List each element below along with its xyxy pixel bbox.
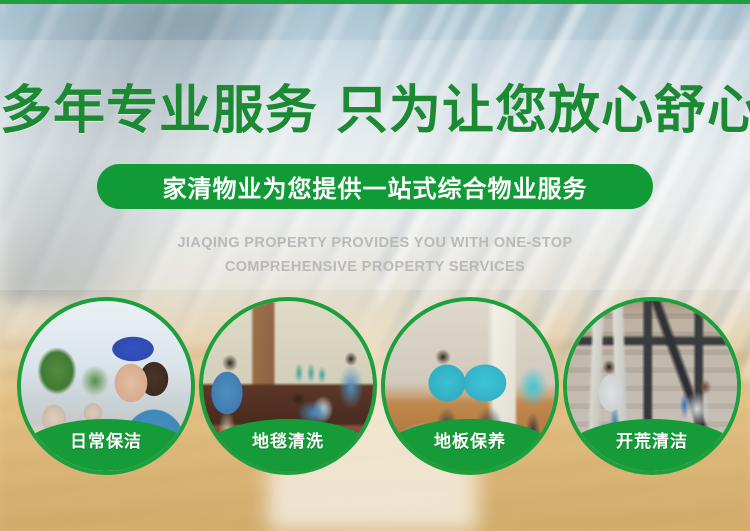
service-circle-row: 日常保洁 地毯清洗 地板保养 开荒清洁 [0, 297, 750, 487]
top-accent-bar [0, 0, 750, 4]
service-circle-floor-maintenance[interactable]: 地板保养 [381, 297, 559, 475]
english-subtitle-line-1: JIAQING PROPERTY PROVIDES YOU WITH ONE-S… [0, 231, 750, 255]
service-label: 日常保洁 [70, 427, 142, 452]
english-subtitle-line-2: COMPREHENSIVE PROPERTY SERVICES [0, 255, 750, 279]
service-circle-daily-cleaning[interactable]: 日常保洁 [17, 297, 195, 475]
english-subtitle: JIAQING PROPERTY PROVIDES YOU WITH ONE-S… [0, 231, 750, 279]
service-label: 开荒清洁 [616, 427, 688, 452]
tagline-text: 家清物业为您提供一站式综合物业服务 [163, 169, 588, 204]
headline-part-1: 多年专业服务 [0, 82, 318, 140]
service-label: 地毯清洗 [252, 427, 324, 452]
service-label: 地板保养 [434, 427, 506, 452]
service-circle-post-construction-cleaning[interactable]: 开荒清洁 [563, 297, 741, 475]
tagline-pill: 家清物业为您提供一站式综合物业服务 [97, 164, 653, 209]
service-circle-carpet-cleaning[interactable]: 地毯清洗 [199, 297, 377, 475]
headline-part-2: 只为让您放心舒心 [336, 82, 750, 140]
headline: 多年专业服务只为让您放心舒心 [0, 80, 750, 142]
promo-banner: 多年专业服务只为让您放心舒心 家清物业为您提供一站式综合物业服务 JIAQING… [0, 0, 750, 531]
